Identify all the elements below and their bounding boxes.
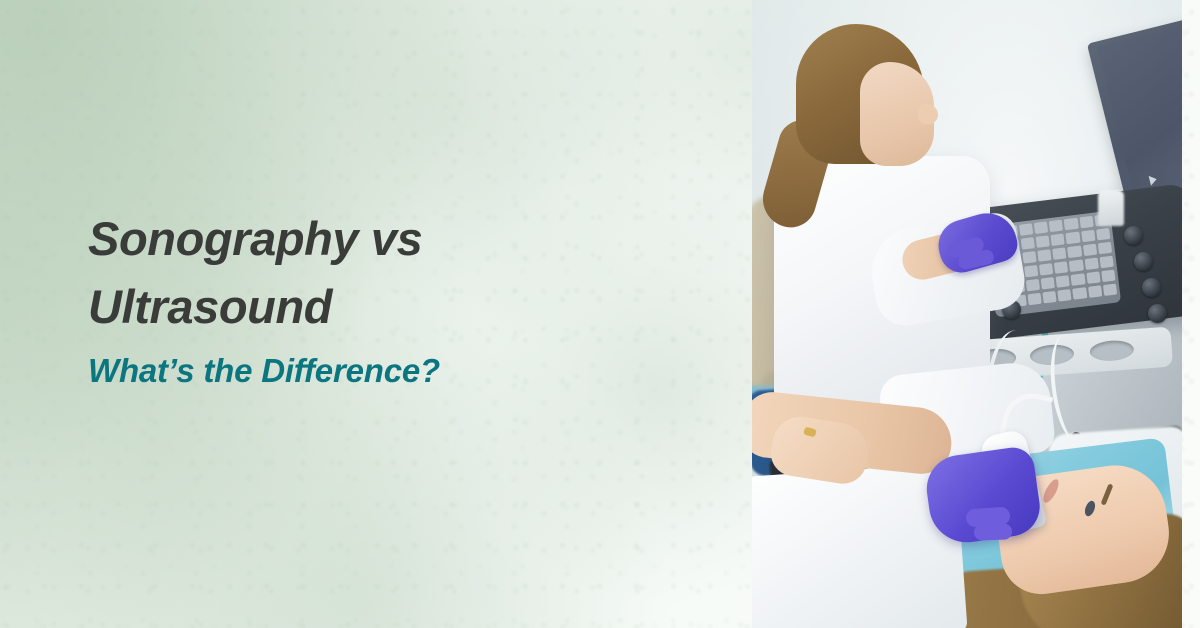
subtitle: What’s the Difference? (88, 353, 708, 389)
headline-line-2: Ultrasound (88, 273, 708, 341)
console-knob (1148, 304, 1167, 323)
glove-finger (974, 523, 1013, 540)
console-knob (1142, 278, 1161, 297)
sonographer-nose (918, 104, 938, 124)
hero-photo (752, 0, 1182, 628)
page-title: Sonography vs Ultrasound (88, 205, 708, 340)
console-knob (1124, 226, 1143, 245)
ultrasound-gel-bottle (1098, 190, 1124, 226)
headline-block: Sonography vs Ultrasound What’s the Diff… (88, 205, 708, 390)
banner-root: Sonography vs Ultrasound What’s the Diff… (0, 0, 1200, 628)
headline-line-1: Sonography vs (88, 212, 422, 265)
console-knob (1134, 252, 1153, 271)
